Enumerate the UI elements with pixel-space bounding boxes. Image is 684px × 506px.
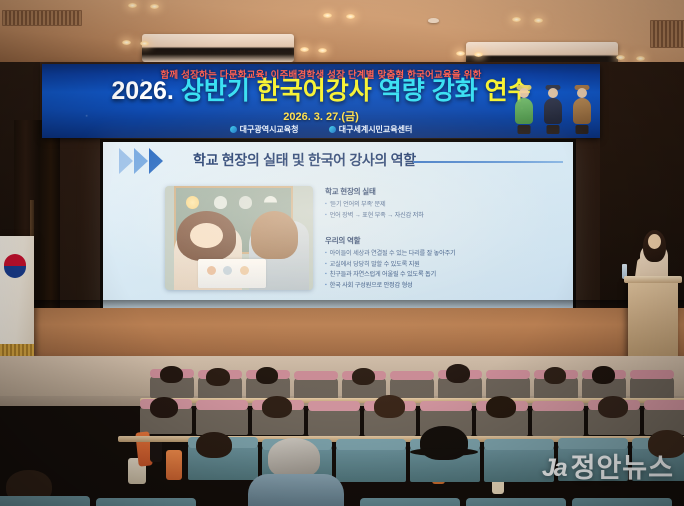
attendee-head bbox=[206, 368, 230, 386]
presenter-head bbox=[648, 234, 661, 249]
seat-headrest bbox=[420, 401, 472, 411]
podium-top bbox=[624, 276, 682, 283]
ceiling-spotlight bbox=[122, 40, 131, 45]
seat-headrest bbox=[558, 438, 628, 449]
slide-section-1-bullet-2: 언어 장벽 → 표현 부족 → 자신감 저하 bbox=[325, 211, 537, 222]
watermark-text: 정안뉴스 bbox=[571, 455, 674, 482]
korean-flag bbox=[0, 236, 34, 356]
attendee-head bbox=[256, 367, 278, 384]
seat-headrest bbox=[196, 400, 248, 410]
seat-headrest bbox=[336, 439, 406, 450]
aisle-handbag bbox=[150, 440, 162, 462]
attendee-head bbox=[446, 364, 470, 383]
watermark-logo-mark: Ja bbox=[542, 456, 566, 481]
seat bbox=[96, 498, 196, 506]
audience-seating bbox=[0, 362, 684, 506]
slide-section-2-bullet-2: 교실에서 당당히 말할 수 있도록 지원 bbox=[325, 260, 537, 271]
slide-section-2-heading: 우리의 역할 bbox=[325, 235, 537, 246]
seat-headrest bbox=[532, 401, 584, 411]
banner-org-2: 대구세계시민교육센터 bbox=[329, 124, 413, 135]
seat bbox=[572, 498, 672, 506]
seat bbox=[308, 408, 360, 436]
seat bbox=[486, 377, 530, 399]
seat bbox=[294, 378, 338, 400]
seat-headrest bbox=[390, 371, 434, 380]
ceiling-ac-unit-left bbox=[142, 34, 294, 62]
slide-section-2-bullet-4: 한국 사회 구성원으로 안정감 형성 bbox=[325, 281, 537, 292]
attendee-hat-brim bbox=[410, 448, 478, 456]
org-logo-icon bbox=[329, 126, 336, 133]
seat bbox=[532, 408, 584, 436]
seat-headrest bbox=[486, 370, 530, 379]
aisle-orange-folder bbox=[166, 450, 182, 480]
slide-section-1-heading: 학교 현장의 실태 bbox=[325, 186, 537, 197]
attendee-head bbox=[196, 432, 232, 458]
ceiling-spotlight bbox=[636, 56, 645, 61]
banner-title-part2: 한국어강사 bbox=[257, 77, 372, 105]
attendee-head bbox=[150, 397, 178, 418]
ceiling-spotlight bbox=[512, 17, 521, 22]
banner-figure-icon bbox=[514, 88, 534, 134]
seat-headrest bbox=[630, 370, 674, 379]
ceiling-spotlight bbox=[534, 18, 543, 23]
seat bbox=[196, 407, 248, 435]
attendee-head-grey bbox=[268, 438, 320, 478]
org-logo-icon bbox=[230, 126, 237, 133]
attendee-head bbox=[352, 368, 375, 385]
slide-section-2-bullet-1: 아이들이 세상과 연결될 수 있는 다리를 잘 놓아주기 bbox=[325, 249, 537, 260]
news-watermark: Ja 정안뉴스 bbox=[542, 455, 674, 482]
attendee-head bbox=[374, 395, 405, 418]
slide-section-1-bullet-1: '듣기 언어의 부족' 문제 bbox=[325, 200, 537, 211]
photo-scene: 함께 성장하는 다문화교육! 이주배경학생 성장 단계별 맞춤형 한국어교육을 … bbox=[0, 0, 684, 506]
seat bbox=[360, 498, 460, 506]
attendee-head bbox=[598, 396, 628, 418]
banner-title-part1: 상반기 bbox=[181, 77, 250, 105]
slide-title-underline bbox=[413, 161, 563, 163]
slide-section-2-bullet-3: 친구들과 자연스럽게 어울릴 수 있도록 돕기 bbox=[325, 270, 537, 281]
flag-gold-fringe bbox=[0, 344, 34, 356]
attendee-shoulders bbox=[248, 474, 344, 506]
ceiling-spotlight bbox=[616, 55, 625, 60]
ceiling-spotlight bbox=[318, 48, 327, 53]
podium bbox=[628, 280, 678, 360]
seat bbox=[0, 496, 90, 506]
event-banner: 함께 성장하는 다문화교육! 이주배경학생 성장 단계별 맞춤형 한국어교육을 … bbox=[42, 64, 600, 138]
photo-warm-overlay bbox=[165, 186, 313, 290]
banner-year: 2026. bbox=[111, 77, 174, 105]
seat bbox=[630, 377, 674, 399]
seat-headrest bbox=[308, 401, 360, 411]
ceiling-spotlight bbox=[323, 13, 332, 18]
chevron-decoration-icon bbox=[119, 148, 185, 174]
presentation-slide: 학교 현장의 실태 및 한국어 강사의 역할 학교 현장의 실태 '듣기 언어의… bbox=[103, 142, 573, 316]
attendee-head bbox=[262, 396, 292, 418]
projection-screen: 학교 현장의 실태 및 한국어 강사의 역할 학교 현장의 실태 '듣기 언어의… bbox=[100, 139, 576, 319]
ceiling-vent-left bbox=[2, 10, 82, 26]
slide-text-column: 학교 현장의 실태 '듣기 언어의 부족' 문제 언어 장벽 → 표현 부족 →… bbox=[325, 186, 537, 292]
attendee-head bbox=[486, 396, 516, 418]
seat-headrest bbox=[644, 400, 684, 410]
seat-headrest bbox=[294, 371, 338, 380]
seat bbox=[336, 446, 406, 482]
banner-figure-icon bbox=[572, 88, 592, 134]
flag-taegeuk-blue bbox=[4, 266, 26, 278]
ceiling-spotlight bbox=[346, 14, 355, 19]
banner-title-part3: 역량 강화 bbox=[379, 77, 478, 105]
banner-multicultural-figures bbox=[510, 72, 596, 134]
attendee-head bbox=[544, 367, 566, 384]
seat-headrest bbox=[484, 439, 554, 450]
ceiling-spotlight bbox=[150, 4, 159, 9]
attendee-head bbox=[160, 366, 183, 383]
banner-figure-icon bbox=[543, 88, 563, 134]
ceiling-smoke-detector bbox=[428, 18, 439, 23]
ceiling-vent-right bbox=[650, 20, 684, 48]
attendee-head bbox=[592, 366, 615, 384]
slide-title: 학교 현장의 실태 및 한국어 강사의 역할 bbox=[193, 150, 416, 170]
ceiling-spotlight bbox=[128, 3, 137, 8]
slide-photo bbox=[165, 186, 313, 290]
ceiling-spotlight bbox=[456, 51, 465, 56]
banner-org-2-label: 대구세계시민교육센터 bbox=[339, 125, 413, 134]
flag-taegeuk-red bbox=[4, 254, 26, 266]
banner-org-1: 대구광역시교육청 bbox=[230, 124, 299, 135]
ceiling-spotlight bbox=[300, 47, 309, 52]
ceiling-spotlight bbox=[474, 52, 483, 57]
banner-org-1-label: 대구광역시교육청 bbox=[240, 125, 299, 134]
seat bbox=[466, 498, 566, 506]
ceiling-spotlight bbox=[140, 41, 149, 46]
